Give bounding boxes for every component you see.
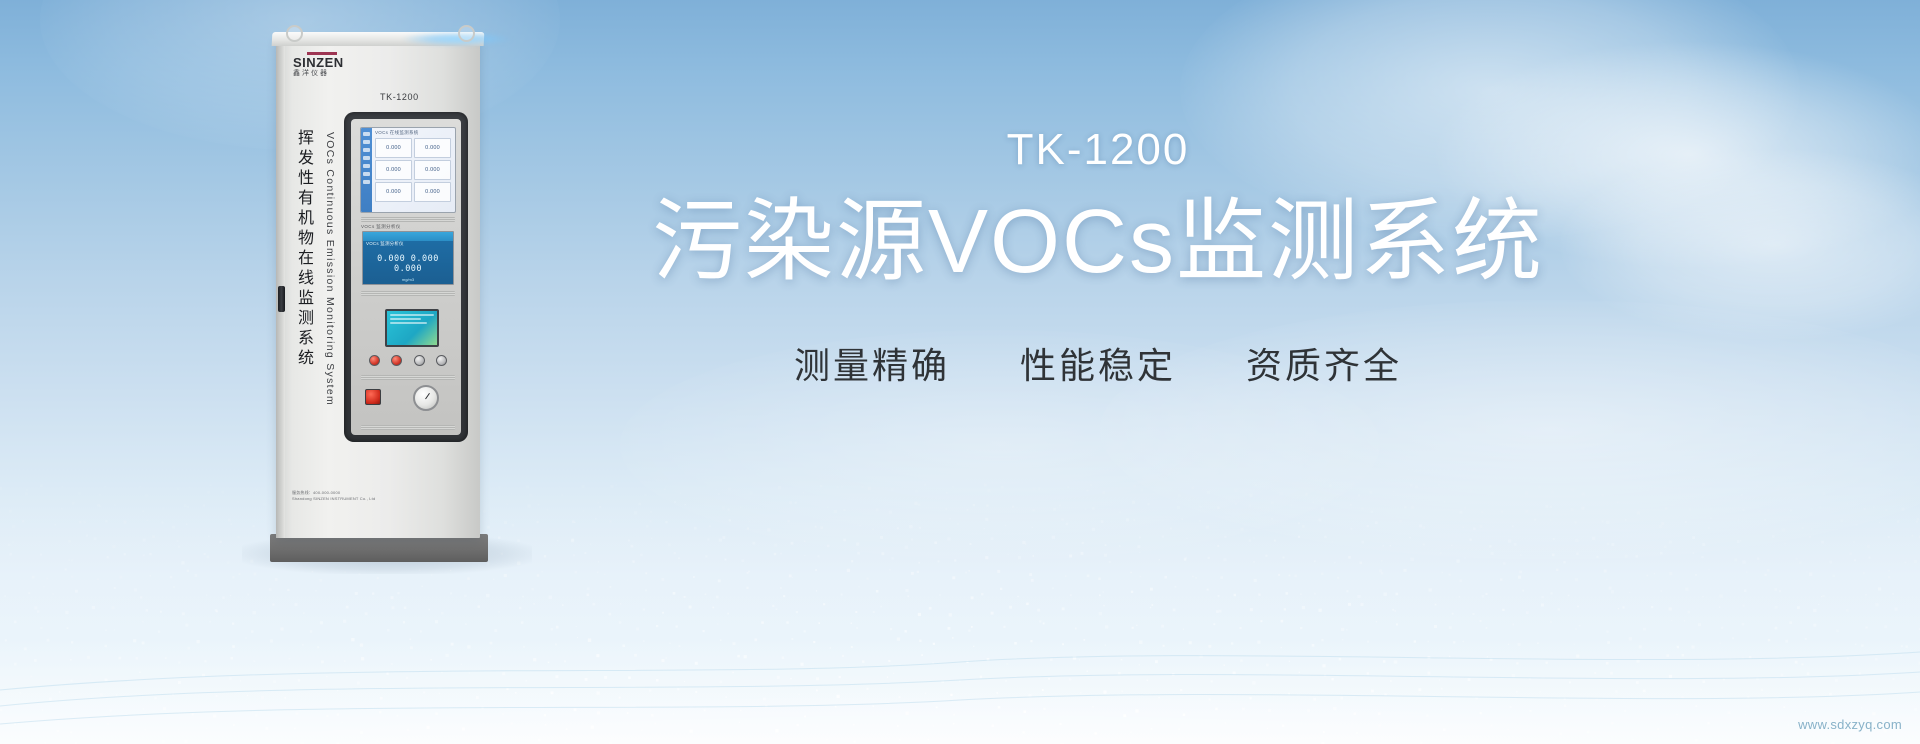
analyzer-panel-label: VOCs 监测分析仪 (361, 224, 401, 230)
knob-row (363, 355, 453, 366)
vent-slot (361, 291, 455, 296)
hmi-cell: 0.000 (414, 182, 451, 202)
banner-model-title: TK-1200 (548, 128, 1648, 172)
hmi-cell: 0.000 (414, 138, 451, 158)
lcd-header-text: VOCs 监测分析仪 (366, 241, 404, 247)
hmi-cell: 0.000 (375, 182, 412, 202)
site-watermark: www.sdxzyq.com (1798, 717, 1902, 732)
lcd-header-bar: VOCs 监测分析仪 (363, 232, 453, 241)
banner-feature-item: 测量精确 (794, 337, 950, 389)
hmi-cell: 0.000 (375, 160, 412, 180)
instrument-bay-inner: VOCs 在线监测系统 0.000 0.000 0.000 0.000 0.00… (351, 119, 461, 435)
cabinet-model-label: TK-1200 (380, 92, 419, 102)
instrument-bay: VOCs 在线监测系统 0.000 0.000 0.000 0.000 0.00… (344, 112, 468, 442)
cabinet-footer-line-2: Shandong SINZEN INSTRUMENT Co., Ltd (292, 496, 375, 502)
banner-main-title: 污染源VOCs监测系统 (548, 194, 1648, 291)
brand-mark-text: SINZEN (293, 56, 359, 69)
hmi-cell: 0.000 (375, 138, 412, 158)
brand-chinese-name: 鑫洋仪器 (293, 70, 359, 78)
hmi-readout-grid: 0.000 0.000 0.000 0.000 0.000 0.000 (375, 138, 451, 204)
analyzer-lcd-display: VOCs 监测分析仪 0.000 0.000 0.000 mg/m3 (362, 231, 454, 285)
cabinet-vertical-english-text: VOCs Continuous Emission Monitoring Syst… (324, 132, 336, 406)
hmi-cell: 0.000 (414, 160, 451, 180)
banner-feature-item: 性能稳定 (1020, 337, 1176, 389)
cabinet-specular-highlight (402, 32, 512, 46)
hmi-sidebar-nav[interactable] (361, 128, 372, 212)
banner-feature-list: 测量精确 性能稳定 资质齐全 (548, 337, 1648, 389)
hoist-ring-left-icon (286, 25, 303, 42)
control-row (361, 383, 455, 423)
cabinet-brand-logo: SINZEN 鑫洋仪器 (293, 52, 359, 78)
vocs-product-banner: SINZEN 鑫洋仪器 TK-1200 挥发性有机物在线监测系统 VOCs Co… (0, 0, 1920, 744)
pressure-gauge-icon (413, 385, 439, 411)
cabinet-vertical-chinese-text: 挥发性有机物在线监测系统 (293, 129, 315, 369)
selector-knob[interactable] (436, 355, 447, 366)
indicator-lamp-alarm[interactable] (414, 355, 425, 366)
vent-slot (361, 375, 455, 380)
indicator-lamp-run[interactable] (391, 355, 402, 366)
emergency-stop-button[interactable] (365, 389, 381, 405)
banner-feature-item: 资质齐全 (1246, 337, 1402, 389)
secondary-display-lines (387, 311, 437, 329)
indicator-lamp-power[interactable] (369, 355, 380, 366)
hmi-touch-screen[interactable]: VOCs 在线监测系统 0.000 0.000 0.000 0.000 0.00… (360, 127, 456, 213)
cabinet-door-handle[interactable] (278, 286, 285, 312)
lcd-readout-values: 0.000 0.000 0.000 (363, 254, 453, 274)
vent-slot (361, 217, 455, 222)
cabinet-footer-text: 服务热线：400-000-0000 Shandong SINZEN INSTRU… (292, 490, 375, 502)
product-cabinet: SINZEN 鑫洋仪器 TK-1200 挥发性有机物在线监测系统 VOCs Co… (262, 24, 508, 564)
vent-slot (361, 425, 455, 430)
cabinet-base-plinth (270, 534, 488, 562)
hoist-ring-right-icon (458, 25, 475, 42)
secondary-display (385, 309, 439, 347)
lcd-unit-label: mg/m3 (363, 277, 453, 282)
hmi-screen-title: VOCs 在线监测系统 (375, 130, 419, 136)
banner-copy-block: TK-1200 污染源VOCs监测系统 测量精确 性能稳定 资质齐全 (548, 128, 1648, 389)
